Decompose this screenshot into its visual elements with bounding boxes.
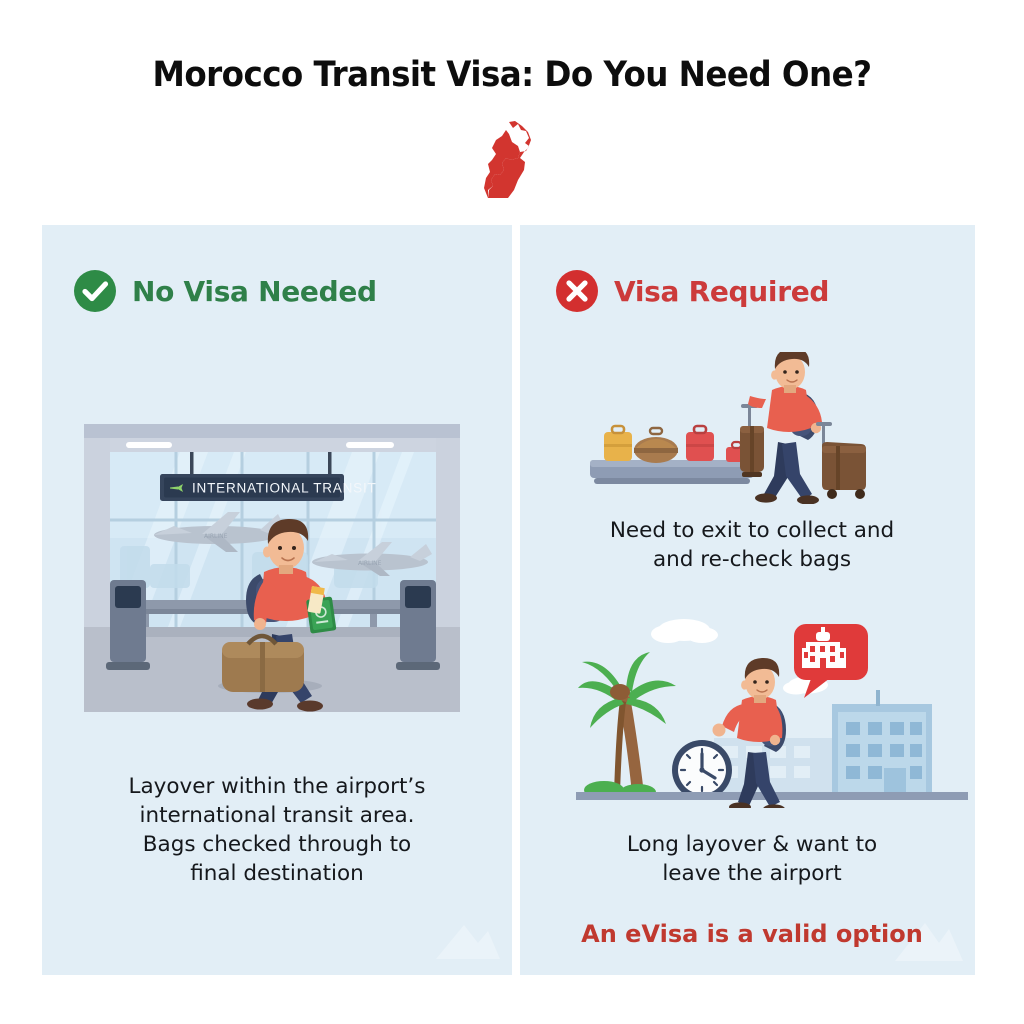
x-mark-svg (556, 270, 598, 312)
kiosk-left (106, 580, 150, 670)
evisa-note: An eVisa is a valid option (552, 918, 952, 950)
airport-transit-svg: AIRLINE AIRLINE INTER (84, 424, 460, 712)
wall-clock-icon (672, 740, 732, 800)
x-circle-icon (556, 270, 598, 312)
sign-text: INTERNATIONAL TRANSIT (192, 481, 377, 496)
baggage-carousel-illustration (576, 352, 968, 504)
infographic-page: Morocco Transit Visa: Do You Need One? N… (0, 0, 1024, 1024)
bag-yellow (604, 426, 632, 461)
duffel-bag (222, 636, 304, 692)
bag-red (686, 426, 714, 461)
office-building-icon (832, 690, 932, 794)
baggage-carousel-svg (576, 352, 968, 504)
check-circle-icon (74, 270, 116, 312)
palm-tree-icon (578, 652, 676, 800)
caption-recheck-bags: Need to exit to collect and and re-check… (552, 516, 952, 574)
panel-watermark-left (426, 899, 506, 969)
traveler-figure (740, 352, 866, 504)
morocco-map-svg (462, 118, 562, 210)
heading-no-visa-label: No Visa Needed (132, 275, 377, 308)
heading-visa-required: Visa Required (556, 270, 829, 312)
rolling-suitcase-trailing (816, 422, 866, 499)
heading-visa-required-label: Visa Required (614, 275, 829, 308)
bag-brown (634, 428, 678, 463)
svg-text:AIRLINE: AIRLINE (358, 560, 382, 567)
cloud-icon (651, 619, 718, 643)
caption-long-layover: Long layover & want to leave the airport (552, 830, 952, 888)
city-layover-svg (576, 612, 968, 808)
heading-no-visa: No Visa Needed (74, 270, 377, 312)
check-mark-svg (74, 270, 116, 312)
morocco-map-silhouette-icon (462, 118, 562, 210)
page-title: Morocco Transit Visa: Do You Need One? (36, 55, 988, 95)
rolling-suitcase-upright (740, 404, 764, 477)
kiosk-right (396, 580, 440, 670)
baggage-belt (590, 460, 754, 484)
airport-transit-illustration: AIRLINE AIRLINE INTER (84, 424, 460, 712)
svg-text:AIRLINE: AIRLINE (204, 533, 228, 540)
city-layover-illustration (576, 612, 968, 808)
caption-no-visa: Layover within the airport’s internation… (82, 772, 472, 888)
